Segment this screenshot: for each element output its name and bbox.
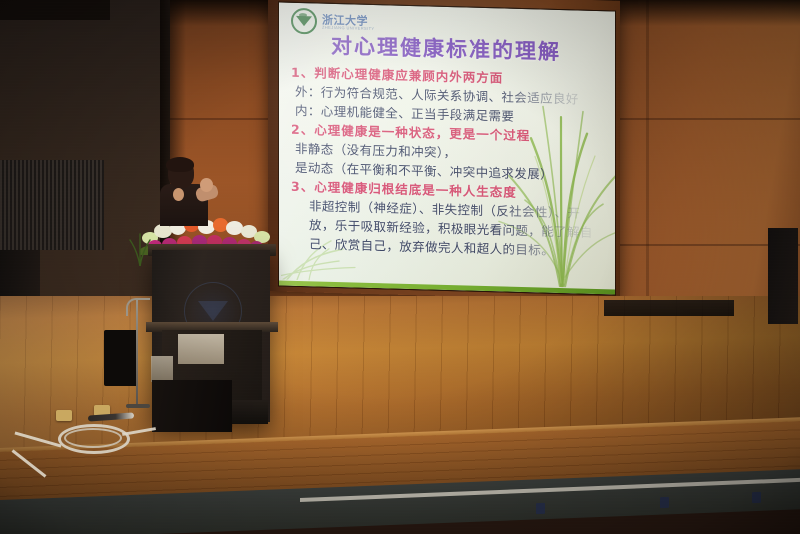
lectern-panel-light-2 <box>151 356 173 382</box>
slide-content: 浙江大学 ZHEJIANG UNIVERSITY 对心理健康标准的理解 1、判断… <box>279 2 615 294</box>
logo-wordmark: 浙江大学 <box>322 14 375 27</box>
presenter-fringe <box>166 157 194 172</box>
logo-wordmark-block: 浙江大学 ZHEJIANG UNIVERSITY <box>322 14 375 30</box>
loudspeaker-right-low <box>604 300 734 316</box>
wall-seam-2 <box>646 0 649 330</box>
cable-clip-2 <box>660 497 669 508</box>
microphone-stand-base <box>126 404 150 408</box>
zhejiang-university-seal-icon <box>291 8 317 35</box>
power-strip <box>56 410 72 421</box>
lecture-hall-photo: 浙江大学 ZHEJIANG UNIVERSITY 对心理健康标准的理解 1、判断… <box>0 0 800 534</box>
equipment-case <box>104 330 138 386</box>
projection-screen: 浙江大学 ZHEJIANG UNIVERSITY 对心理健康标准的理解 1、判断… <box>278 1 616 295</box>
presenter-hand-left <box>173 188 184 201</box>
acoustic-grille-panel <box>0 160 104 250</box>
audio-cable-coil-inner <box>64 428 122 448</box>
slide-title: 对心理健康标准的理解 <box>331 30 607 67</box>
loudspeaker-right <box>768 228 798 324</box>
amplifier-case <box>152 380 232 432</box>
cable-clip-3 <box>752 492 761 503</box>
microphone-boom <box>126 298 150 316</box>
presentation-slide: 浙江大学 ZHEJIANG UNIVERSITY 对心理健康标准的理解 1、判断… <box>279 2 615 294</box>
potted-plant <box>128 226 152 266</box>
cable-clip <box>536 503 545 514</box>
presenter-hand-right <box>200 178 213 192</box>
lectern-panel-light <box>178 334 224 364</box>
microphone-stand <box>136 300 138 408</box>
wall-upper-dark <box>0 0 110 20</box>
